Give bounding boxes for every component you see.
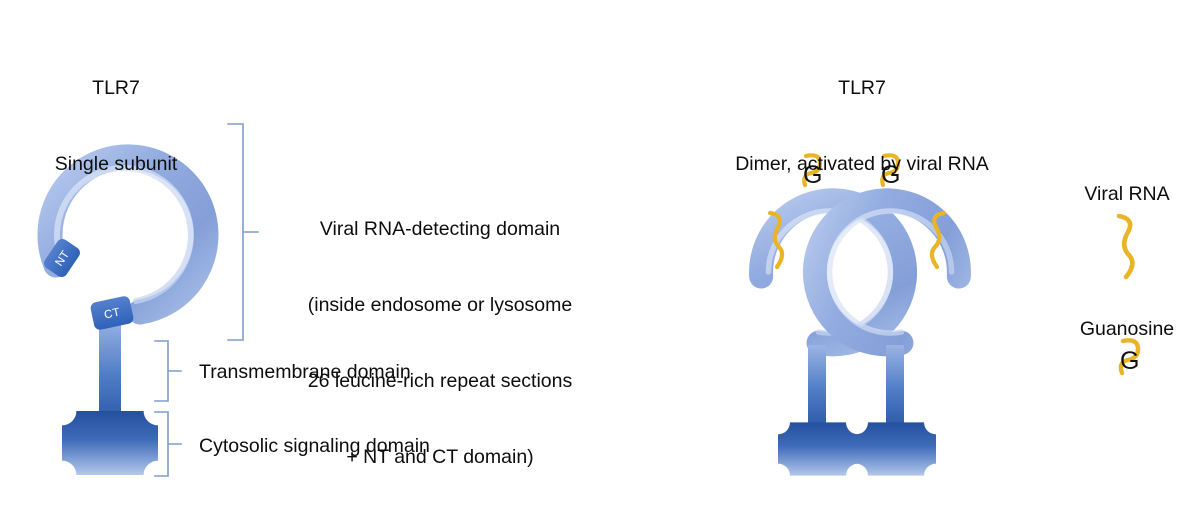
legend-guanosine-symbol: G: [1120, 340, 1139, 375]
dimer-cytosolic-block-left: [778, 422, 858, 475]
diagram-canvas: NT CT: [0, 0, 1204, 497]
dimer-stem-left: [808, 345, 826, 428]
dimer-stem-right: [886, 345, 904, 428]
legend-guanosine-label: Guanosine: [1050, 317, 1204, 342]
transmembrane-label: Transmembrane domain: [199, 360, 411, 385]
left-title-line2: Single subunit: [34, 152, 198, 177]
legend-rna-squiggle: [1119, 216, 1132, 277]
left-panel-title: TLR7 Single subunit: [34, 25, 198, 228]
legend-rna-label: Viral RNA: [1052, 182, 1202, 207]
bracket-transmembrane: [155, 341, 181, 401]
bracket-cytosolic: [155, 412, 181, 476]
bracket-ectodomain: [228, 124, 258, 340]
legend-guanosine-letter: G: [1120, 347, 1139, 375]
cytosolic-block: [62, 411, 158, 475]
ectodomain-description: Viral RNA-detecting domain (inside endos…: [278, 166, 602, 521]
dimer-cytosolic-block-right: [856, 422, 936, 475]
right-title-line1: TLR7: [694, 76, 1030, 101]
transmembrane-stem: [99, 318, 121, 423]
ectodomain-line-2: (inside endosome or lysosome: [278, 293, 602, 318]
left-title-line1: TLR7: [34, 76, 198, 101]
ct-tag: CT: [90, 295, 135, 331]
right-panel-title: TLR7 Dimer, activated by viral RNA: [694, 25, 1030, 228]
right-title-line2: Dimer, activated by viral RNA: [694, 152, 1030, 177]
cytosolic-label: Cytosolic signaling domain: [199, 434, 430, 459]
ectodomain-line-1: Viral RNA-detecting domain: [278, 217, 602, 242]
